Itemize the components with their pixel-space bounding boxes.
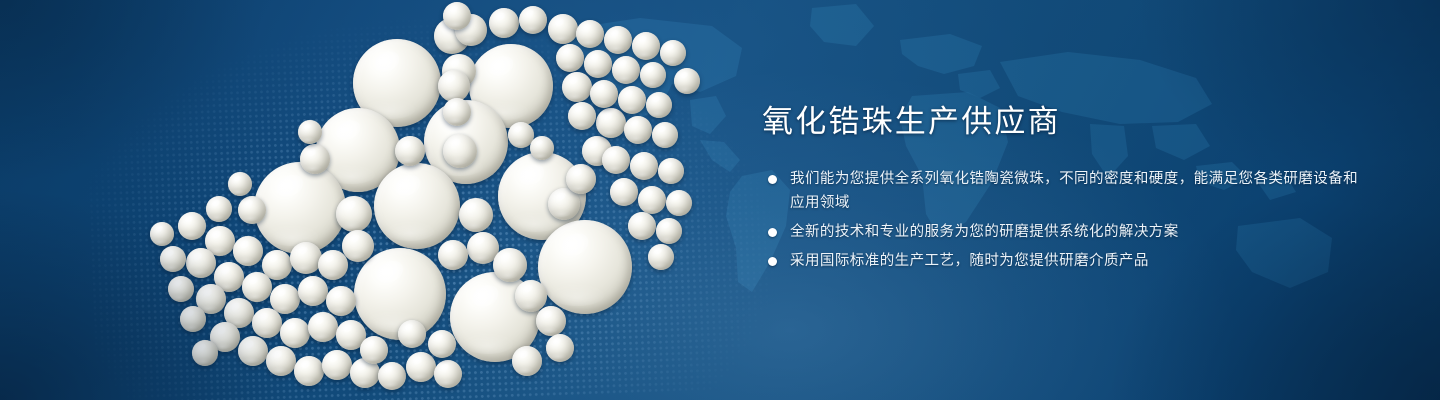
feature-list: 我们能为您提供全系列氧化锆陶瓷微珠，不同的密度和硬度，能满足您各类研磨设备和应用… [762, 167, 1362, 273]
bullet-dot-icon [768, 175, 777, 184]
list-item-label: 全新的技术和专业的服务为您的研磨提供系统化的解决方案 [790, 220, 1362, 244]
list-item: 采用国际标准的生产工艺，随时为您提供研磨介质产品 [762, 249, 1362, 273]
page-title: 氧化锆珠生产供应商 [762, 104, 1362, 141]
banner-content: 氧化锆珠生产供应商 我们能为您提供全系列氧化锆陶瓷微珠，不同的密度和硬度，能满足… [762, 104, 1362, 273]
list-item-label: 我们能为您提供全系列氧化锆陶瓷微珠，不同的密度和硬度，能满足您各类研磨设备和应用… [790, 167, 1362, 215]
bullet-dot-icon [768, 228, 777, 237]
list-item-label: 采用国际标准的生产工艺，随时为您提供研磨介质产品 [790, 249, 1362, 273]
list-item: 全新的技术和专业的服务为您的研磨提供系统化的解决方案 [762, 220, 1362, 244]
hero-banner: 氧化锆珠生产供应商 我们能为您提供全系列氧化锆陶瓷微珠，不同的密度和硬度，能满足… [0, 0, 1440, 400]
bullet-dot-icon [768, 257, 777, 266]
list-item: 我们能为您提供全系列氧化锆陶瓷微珠，不同的密度和硬度，能满足您各类研磨设备和应用… [762, 167, 1362, 215]
